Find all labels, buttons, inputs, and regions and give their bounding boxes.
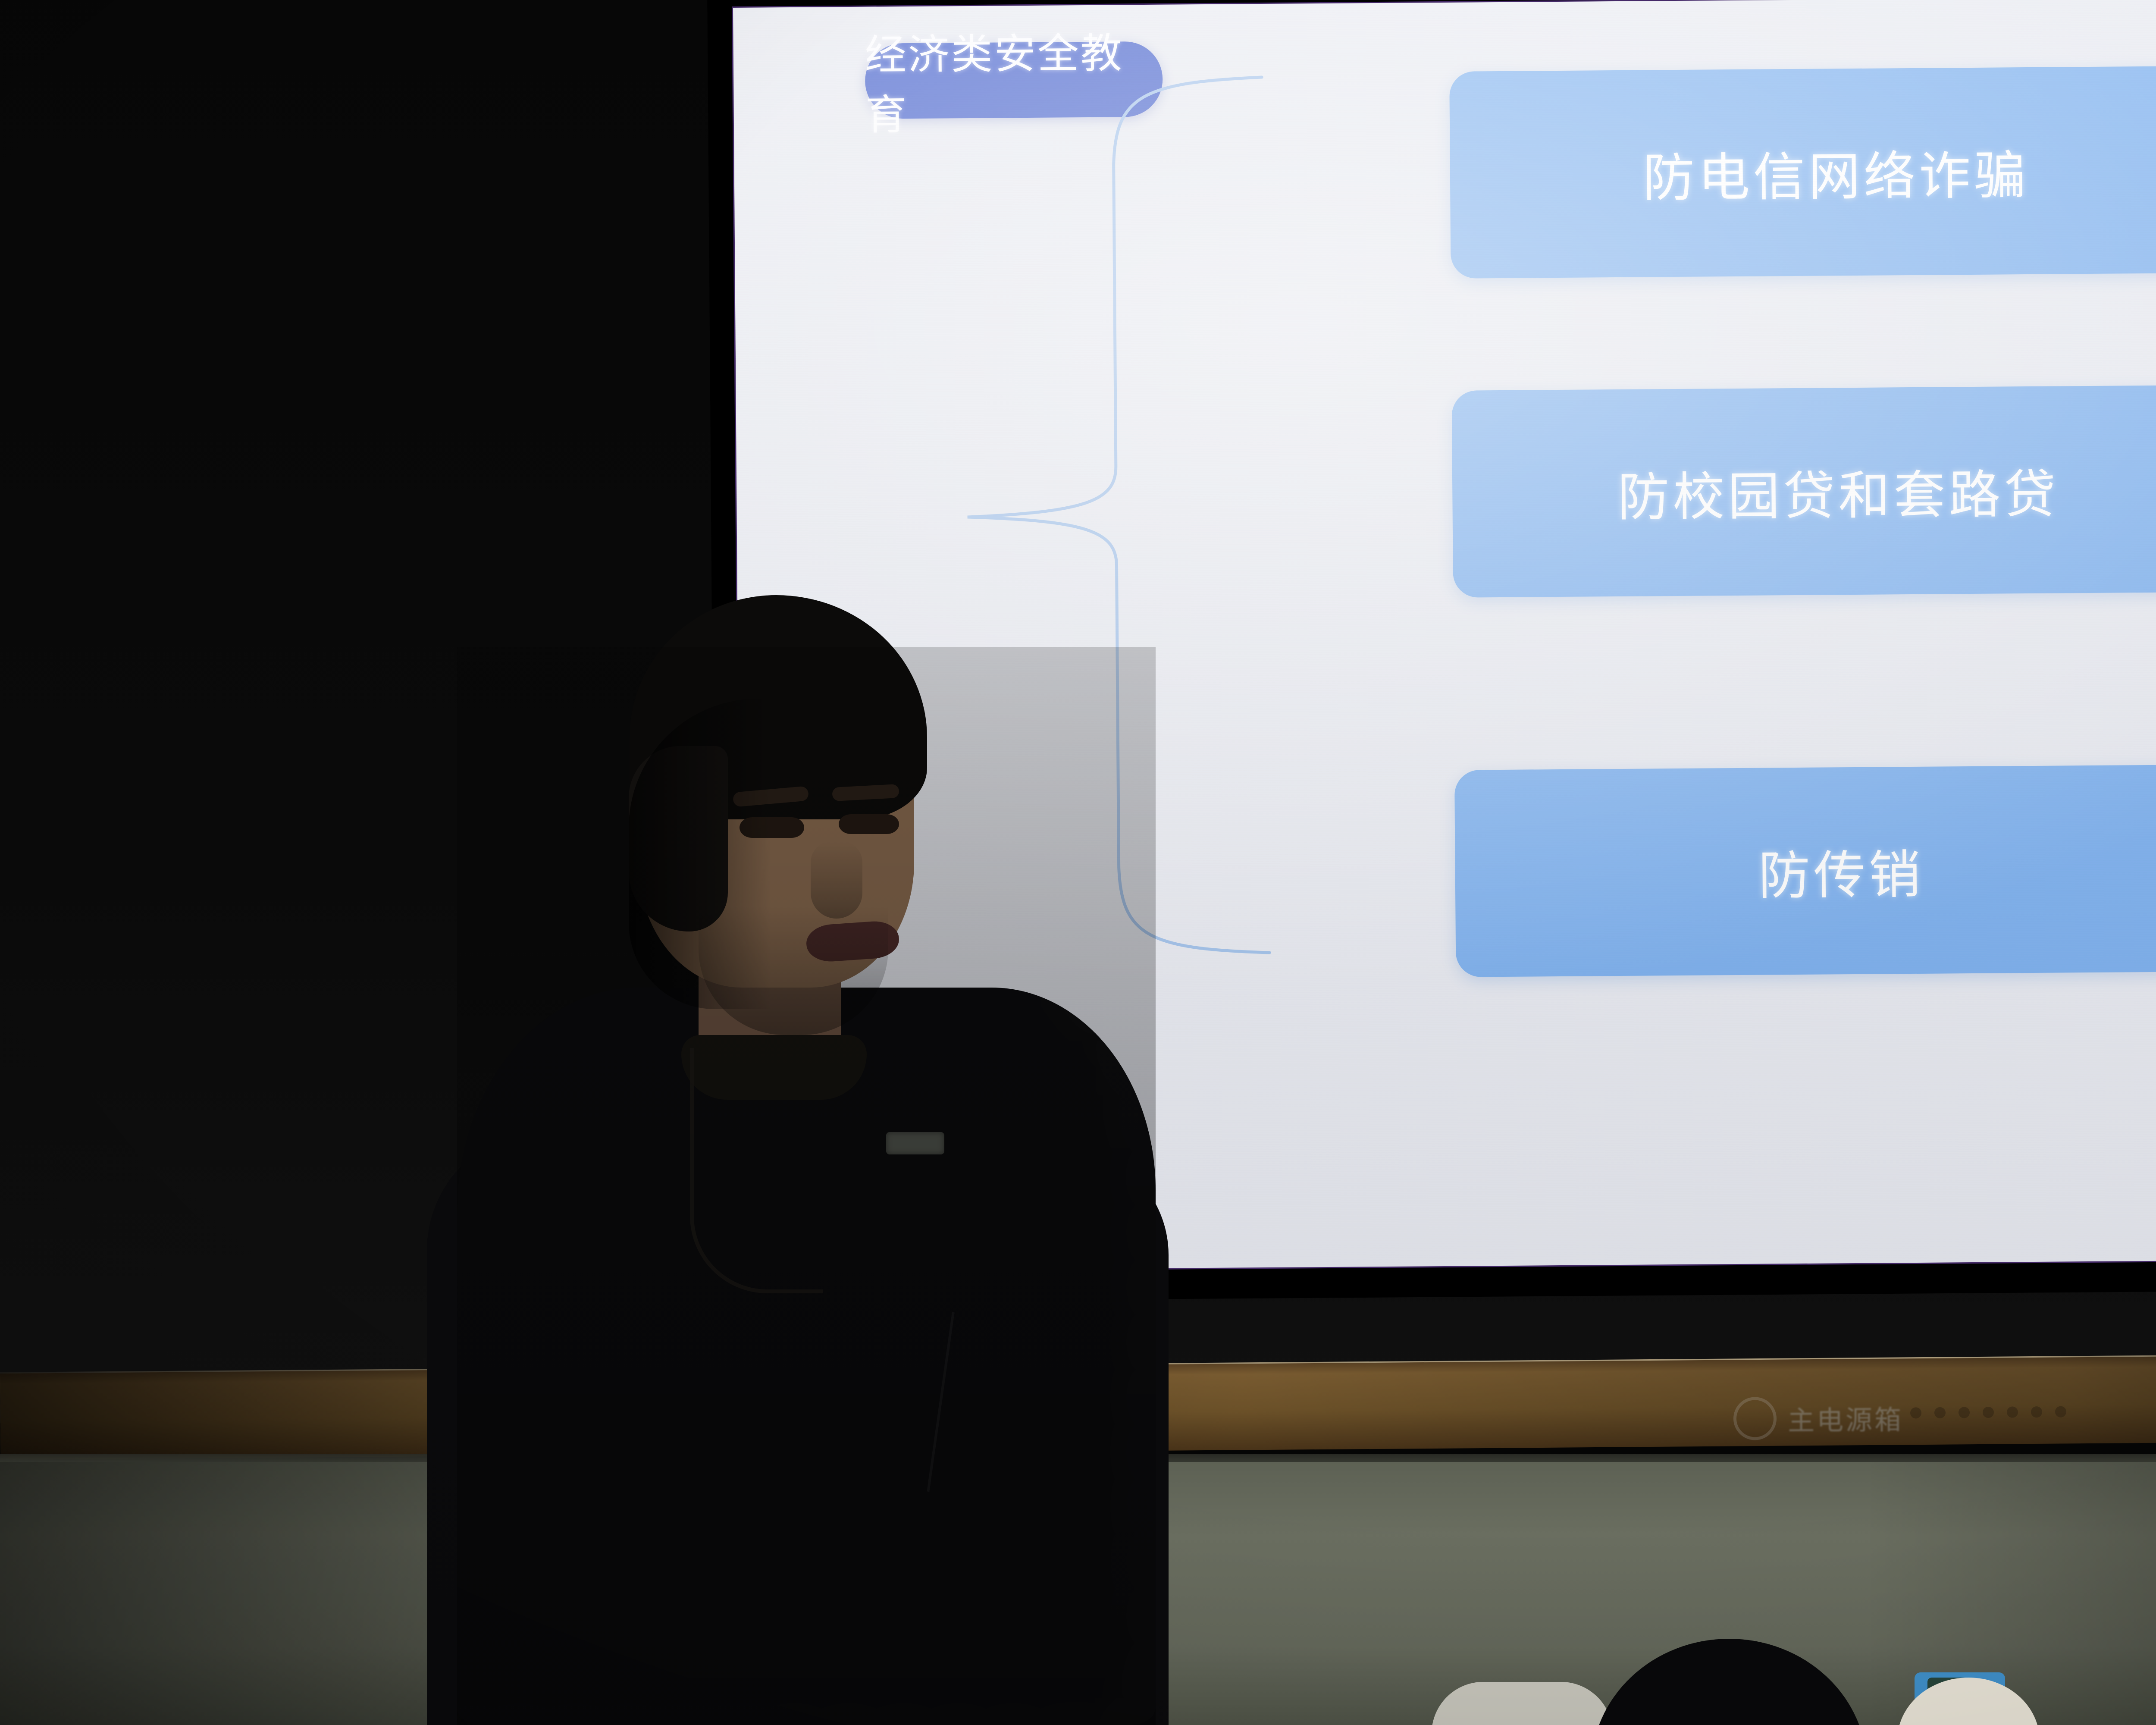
presenter-figure xyxy=(457,647,1156,1725)
list-item: 防电信网络诈骗 xyxy=(1449,66,2156,279)
list-item: 防传销 xyxy=(1454,765,2156,977)
item-label: 防校园贷和套路贷 xyxy=(1617,452,2059,530)
ledge-dot xyxy=(2031,1406,2042,1418)
item-label: 防电信网络诈骗 xyxy=(1642,133,2029,211)
slide-title-pill: 经济类安全教育 xyxy=(865,41,1163,119)
presenter-lanyard-cord xyxy=(690,1048,823,1293)
ledge-brand-logo: 主电源箱 xyxy=(1733,1394,1937,1441)
presenter-jacket-zip xyxy=(799,1294,954,1492)
item-label: 防传销 xyxy=(1758,833,1924,909)
ledge-dot xyxy=(1983,1407,1994,1418)
ledge-dot xyxy=(2007,1406,2018,1418)
presenter-eye-right xyxy=(839,814,899,834)
ledge-dot xyxy=(1959,1407,1970,1418)
photo-scene: 经济类安全教育 防电信网络诈骗 防校园贷和套路贷 防传销 主电源箱 xyxy=(0,0,2156,1725)
slide-title-text: 经济类安全教育 xyxy=(865,19,1163,141)
logo-mark-icon xyxy=(1733,1397,1777,1440)
ledge-brand-text: 主电源箱 xyxy=(1788,1398,1904,1437)
list-item: 防校园贷和套路贷 xyxy=(1452,385,2156,598)
audience-foreground-object xyxy=(1432,1682,1613,1725)
presenter-chest-label xyxy=(886,1132,944,1154)
ledge-control-dots xyxy=(1910,1406,2066,1419)
ledge-dot xyxy=(1934,1407,1946,1418)
ledge-dot xyxy=(1910,1407,1921,1418)
ledge-dot xyxy=(2055,1406,2066,1418)
